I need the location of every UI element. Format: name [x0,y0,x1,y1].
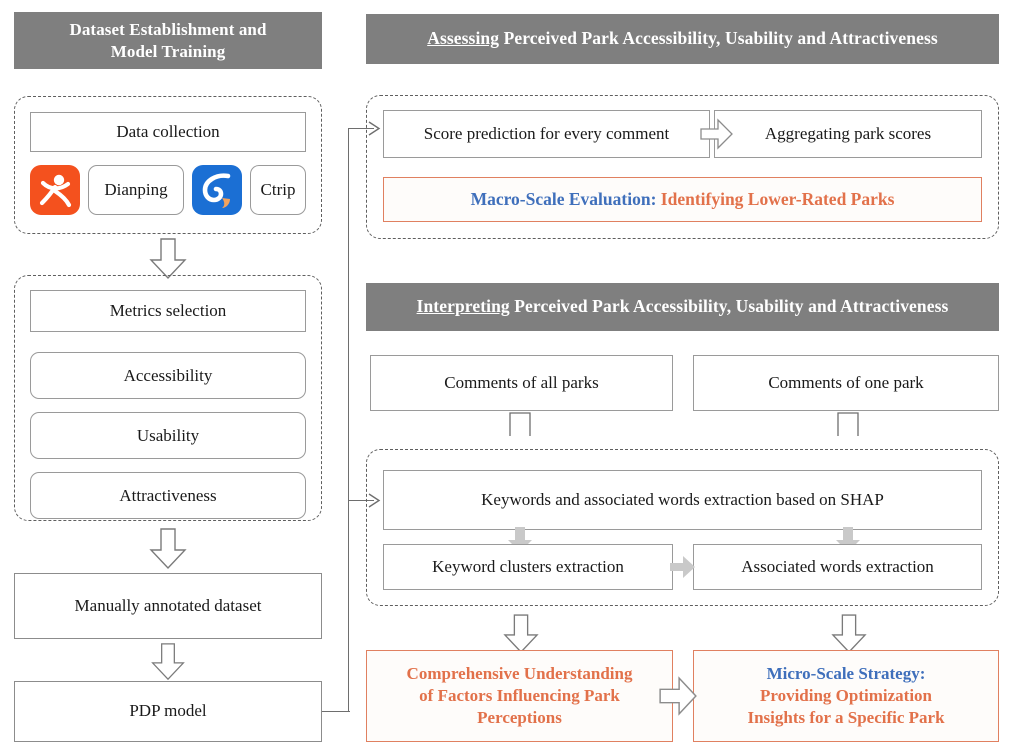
macro-scale-blue-text: Macro-Scale Evaluation: [471,189,657,209]
assessing-header-rest: Perceived Park Accessibility, Usability … [499,28,938,48]
data-collection-box[interactable]: Data collection [30,112,306,152]
data-collection-label: Data collection [116,122,219,142]
annotated-dataset-box[interactable]: Manually annotated dataset [14,573,322,639]
ctrip-app-icon[interactable] [192,165,242,215]
arrow-down-to-comprehensive-understanding [503,614,539,654]
interpreting-header-underlined: Interpreting [417,296,510,316]
left-column-header: Dataset Establishment and Model Training [14,12,322,69]
comprehensive-line1: Comprehensive Understanding [407,664,633,683]
arrow-down-to-metrics [149,238,187,280]
associated-words-label: Associated words extraction [741,557,934,577]
comprehensive-understanding-box[interactable]: Comprehensive Understanding of Factors I… [366,650,673,742]
score-prediction-label: Score prediction for every comment [424,124,669,144]
aggregating-scores-label: Aggregating park scores [765,124,931,144]
comments-all-parks-label: Comments of all parks [444,373,598,393]
comments-one-park-box[interactable]: Comments of one park [693,355,999,411]
micro-scale-orange-line2: Insights for a Specific Park [747,708,944,727]
arrow-down-to-annotated-dataset [149,528,187,570]
left-header-line2: Model Training [69,41,266,62]
ctrip-label-box[interactable]: Ctrip [250,165,306,215]
metric-usability-label: Usability [137,426,199,446]
micro-scale-orange-line1: Providing Optimization [760,686,932,705]
arrow-down-to-pdp-model [149,643,187,681]
dianping-label-box[interactable]: Dianping [88,165,184,215]
aggregating-scores-box[interactable]: Aggregating park scores [714,110,982,158]
arrow-right-comprehensive-to-microscale [659,675,697,717]
dianping-glyph [30,165,80,215]
connector-pdp-vertical [348,128,349,712]
metric-accessibility-box[interactable]: Accessibility [30,352,306,399]
left-header-line1: Dataset Establishment and [69,19,266,40]
metric-accessibility-label: Accessibility [124,366,213,386]
macro-scale-outcome-box[interactable]: Macro-Scale Evaluation: Identifying Lowe… [383,177,982,222]
assessing-header-underlined: Assessing [427,28,499,48]
flowchart-diagram: Dataset Establishment and Model Training… [0,0,1013,754]
comprehensive-line3: Perceptions [477,708,562,727]
dianping-app-icon[interactable] [30,165,80,215]
micro-scale-blue-line: Micro-Scale Strategy: [767,664,926,683]
dianping-label: Dianping [104,180,167,200]
keyword-clusters-label: Keyword clusters extraction [432,557,624,577]
metric-attractiveness-box[interactable]: Attractiveness [30,472,306,519]
pdp-model-box[interactable]: PDP model [14,681,322,742]
annotated-dataset-label: Manually annotated dataset [75,596,262,616]
comments-one-park-label: Comments of one park [768,373,923,393]
micro-scale-strategy-box[interactable]: Micro-Scale Strategy: Providing Optimiza… [693,650,999,742]
tab-connector-left [508,411,532,437]
arrow-right-clusters-to-associated [670,555,696,579]
interpreting-section-header: Interpreting Perceived Park Accessibilit… [366,283,999,331]
metrics-selection-box[interactable]: Metrics selection [30,290,306,332]
interpreting-header-rest: Perceived Park Accessibility, Usability … [510,296,949,316]
arrow-right-score-to-aggregate [700,118,734,150]
metric-attractiveness-label: Attractiveness [119,486,216,506]
assessing-section-header: Assessing Perceived Park Accessibility, … [366,14,999,64]
connector-pdp-horizontal [322,711,350,712]
shap-extraction-label: Keywords and associated words extraction… [481,490,884,510]
shap-extraction-box[interactable]: Keywords and associated words extraction… [383,470,982,530]
tab-connector-right [836,411,860,437]
associated-words-box[interactable]: Associated words extraction [693,544,982,590]
macro-scale-orange-text: Identifying Lower-Rated Parks [656,189,894,209]
comprehensive-line2: of Factors Influencing Park [419,686,620,705]
pdp-model-label: PDP model [129,701,206,721]
metrics-selection-label: Metrics selection [110,301,227,321]
score-prediction-box[interactable]: Score prediction for every comment [383,110,710,158]
keyword-clusters-box[interactable]: Keyword clusters extraction [383,544,673,590]
ctrip-dolphin-glyph [192,165,242,215]
metric-usability-box[interactable]: Usability [30,412,306,459]
comments-all-parks-box[interactable]: Comments of all parks [370,355,673,411]
ctrip-label: Ctrip [261,180,296,200]
arrow-down-to-micro-scale-strategy [831,614,867,654]
